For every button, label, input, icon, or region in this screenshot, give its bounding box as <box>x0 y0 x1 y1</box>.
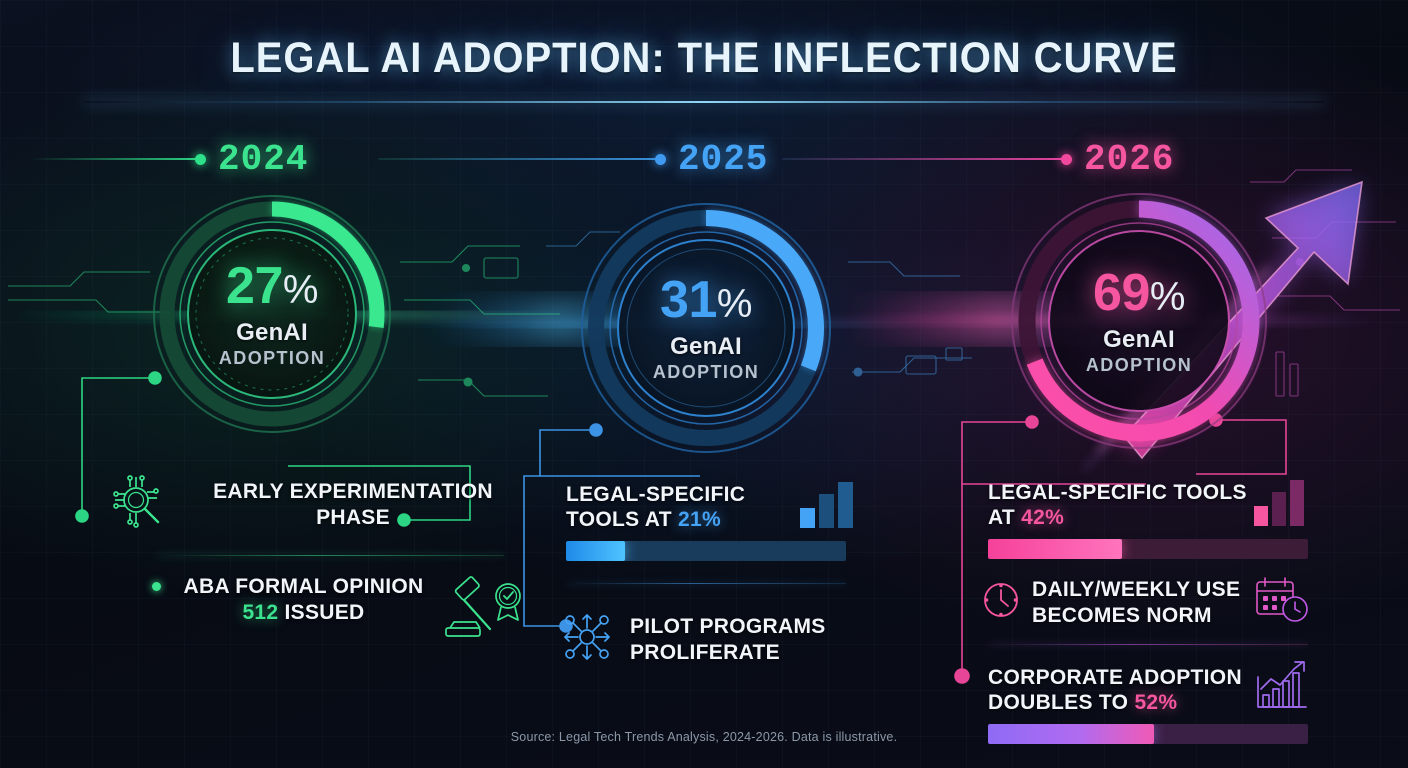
donut-caption-line2: ADOPTION <box>1086 355 1192 376</box>
panel-2026-item-3-label: CORPORATE ADOPTION DOUBLES TO 52% <box>980 665 1254 716</box>
highlight-value: 42% <box>1021 506 1064 529</box>
panel-2025-item-2: PILOT PROGRAMS PROLIFERATE <box>556 606 856 673</box>
donut-value-2025: 31 <box>660 271 717 329</box>
donut-caption-line1: GenAI <box>1103 326 1175 354</box>
timeline-marker-2026: 2026 <box>782 136 1174 182</box>
panel-2024: EARLY EXPERIMENTATION PHASE ABA FORMAL O… <box>108 470 528 649</box>
donut-value-2026: 69 <box>1093 264 1150 322</box>
bar-chart-icon <box>1252 478 1310 531</box>
year-label-2026: 2026 <box>1084 139 1174 180</box>
text-before: CORPORATE ADOPTION DOUBLES TO <box>988 666 1242 715</box>
percent-symbol: % <box>283 268 318 312</box>
panel-2026-item-1: LEGAL-SPECIFIC TOOLS AT 42% <box>980 478 1310 531</box>
timeline-marker-2024: 2024 <box>30 136 308 182</box>
progress-track-2025 <box>566 541 846 561</box>
donut-value-2024: 27 <box>226 257 283 315</box>
timeline-dot-icon <box>1061 154 1072 165</box>
panel-2026-divider <box>988 644 1308 645</box>
calendar-clock-icon <box>1254 575 1310 630</box>
infographic-canvas: LEGAL AI ADOPTION: THE INFLECTION CURVE … <box>0 0 1408 768</box>
source-footnote: Source: Legal Tech Trends Analysis, 2024… <box>0 730 1408 744</box>
panel-2026-item-2-label: DAILY/WEEKLY USE BECOMES NORM <box>1022 577 1254 628</box>
network-spread-icon <box>556 606 618 673</box>
text-before: ABA FORMAL OPINION <box>184 575 424 598</box>
panel-2025-item-2-label: PILOT PROGRAMS PROLIFERATE <box>618 614 856 665</box>
percent-symbol: % <box>717 282 752 326</box>
text-after: ISSUED <box>278 601 364 624</box>
page-title: LEGAL AI ADOPTION: THE INFLECTION CURVE <box>49 34 1358 83</box>
donut-chart-2026: 69% GenAI ADOPTION <box>1008 190 1270 452</box>
panel-2026-item-2: DAILY/WEEKLY USE BECOMES NORM <box>980 575 1310 630</box>
timeline-line <box>782 158 1064 160</box>
highlight-value: 52% <box>1134 691 1177 714</box>
title-underline-glow <box>84 101 1324 103</box>
clock-icon <box>980 579 1022 626</box>
panel-2025-divider <box>566 583 846 584</box>
donut-chart-2024: 27% GenAI ADOPTION <box>150 192 394 436</box>
panel-2025-item-1-label: LEGAL-SPECIFIC TOOLS AT 21% <box>556 482 796 533</box>
panel-2024-item-1-label: EARLY EXPERIMENTATION PHASE <box>172 479 528 530</box>
donut-chart-2025: 31% GenAI ADOPTION <box>578 200 834 456</box>
growth-chart-icon <box>1254 659 1310 716</box>
timeline-dot-icon <box>195 154 206 165</box>
year-label-2024: 2024 <box>218 139 308 180</box>
progress-track-2026-tools <box>988 539 1308 559</box>
highlight-value: 21% <box>678 508 721 531</box>
timeline-dot-icon <box>655 154 666 165</box>
progress-fill-2025 <box>566 541 625 561</box>
panel-2026-item-1-label: LEGAL-SPECIFIC TOOLS AT 42% <box>980 480 1252 531</box>
panel-2024-item-2-label: ABA FORMAL OPINION 512 ISSUED <box>171 574 436 625</box>
percent-symbol: % <box>1150 275 1185 319</box>
gavel-badge-icon <box>440 574 528 649</box>
panel-2025: LEGAL-SPECIFIC TOOLS AT 21% <box>556 480 856 673</box>
panel-2025-item-1: LEGAL-SPECIFIC TOOLS AT 21% <box>556 480 856 533</box>
highlight-value: 512 <box>242 601 278 624</box>
donut-caption-line1: GenAI <box>236 319 308 347</box>
panel-2026-item-3: CORPORATE ADOPTION DOUBLES TO 52% <box>980 659 1310 716</box>
panel-2024-item-2: ABA FORMAL OPINION 512 ISSUED <box>108 574 528 649</box>
bar-chart-icon <box>796 480 856 533</box>
bullet-dot-icon <box>152 582 161 591</box>
donut-caption-line2: ADOPTION <box>653 362 759 383</box>
donut-caption-line2: ADOPTION <box>219 348 325 369</box>
timeline-marker-2025: 2025 <box>378 136 768 182</box>
progress-fill-2026-tools <box>988 539 1122 559</box>
panel-2026: LEGAL-SPECIFIC TOOLS AT 42% <box>980 478 1310 744</box>
magnifier-circuit-icon <box>108 470 172 539</box>
timeline-line <box>30 158 198 160</box>
panel-2024-item-1: EARLY EXPERIMENTATION PHASE <box>108 470 528 539</box>
year-label-2025: 2025 <box>678 139 768 180</box>
panel-2024-divider <box>156 555 504 556</box>
donut-caption-line1: GenAI <box>670 333 742 361</box>
timeline-line <box>378 158 658 160</box>
